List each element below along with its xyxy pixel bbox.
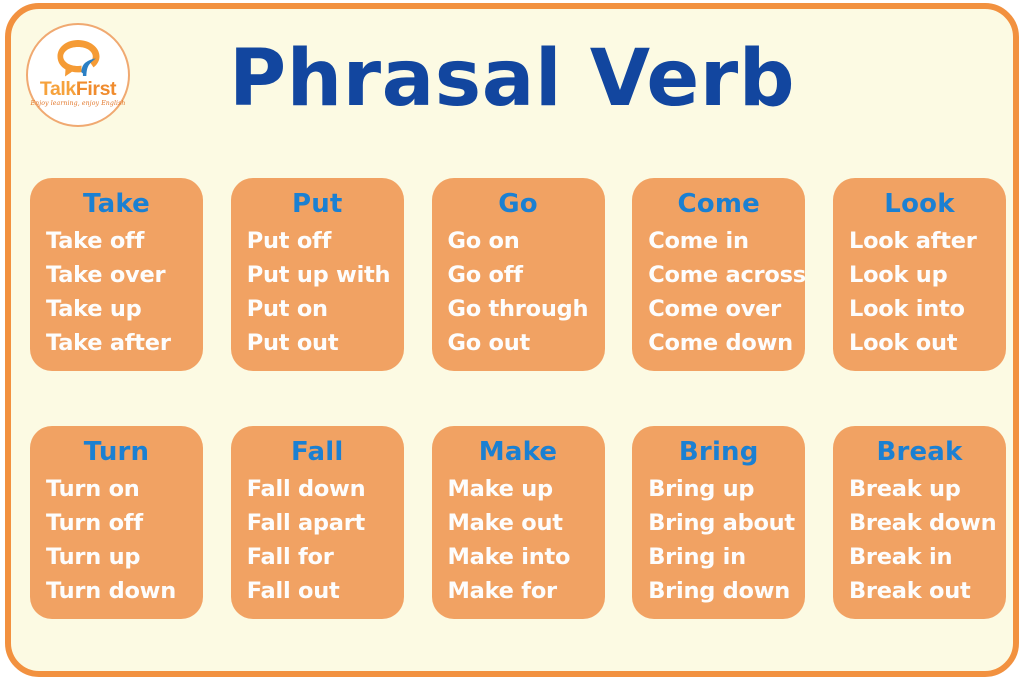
poster-frame: TalkFirst Enjoy learning, enjoy English … [5,3,1019,677]
verb-card-title: Look [833,188,1006,222]
verb-card[interactable]: MakeMake upMake outMake intoMake for [432,426,605,619]
verb-card-item: Go on [448,224,605,258]
verb-card[interactable]: BringBring upBring aboutBring inBring do… [632,426,805,619]
verb-card-title: Break [833,436,1006,470]
verb-card-title: Put [231,188,404,222]
verb-card-item: Take over [46,258,203,292]
verb-card-list: Come inCome acrossCome overCome down [632,222,805,361]
verb-card-list: Turn onTurn offTurn upTurn down [30,470,203,609]
verb-card[interactable]: GoGo onGo offGo throughGo out [432,178,605,371]
verb-card-item: Fall apart [247,506,404,540]
verb-card-list: Bring upBring aboutBring inBring down [632,470,805,609]
verb-card-item: Put out [247,326,404,360]
verb-card-item: Fall down [247,472,404,506]
verb-card-item: Make into [448,540,605,574]
verb-card-item: Bring up [648,472,805,506]
verb-card-item: Put up with [247,258,404,292]
verb-card-item: Take after [46,326,203,360]
verb-card-item: Take up [46,292,203,326]
verb-card-title: Go [432,188,605,222]
verb-card-item: Turn off [46,506,203,540]
verb-card-item: Fall out [247,574,404,608]
verb-card-item: Look after [849,224,1006,258]
verb-card-row-1: TakeTake offTake overTake upTake afterPu… [30,178,1006,371]
verb-card-item: Look into [849,292,1006,326]
verb-card-title: Take [30,188,203,222]
poster-root: TalkFirst Enjoy learning, enjoy English … [0,0,1024,680]
verb-card-title: Turn [30,436,203,470]
verb-card[interactable]: TakeTake offTake overTake upTake after [30,178,203,371]
verb-card-list: Fall downFall apartFall forFall out [231,470,404,609]
verb-card-item: Go out [448,326,605,360]
verb-card-item: Come in [648,224,805,258]
verb-card-item: Make for [448,574,605,608]
verb-card-item: Break out [849,574,1006,608]
verb-card-item: Break in [849,540,1006,574]
verb-card-list: Put offPut up withPut onPut out [231,222,404,361]
verb-card-title: Come [632,188,805,222]
verb-card[interactable]: ComeCome inCome acrossCome overCome down [632,178,805,371]
verb-card-list: Go onGo offGo throughGo out [432,222,605,361]
verb-card-item: Look up [849,258,1006,292]
verb-card-row-2: TurnTurn onTurn offTurn upTurn downFallF… [30,426,1006,619]
verb-card[interactable]: TurnTurn onTurn offTurn upTurn down [30,426,203,619]
verb-card-item: Put off [247,224,404,258]
verb-card-item: Come down [648,326,805,360]
verb-card[interactable]: PutPut offPut up withPut onPut out [231,178,404,371]
verb-card-item: Come across [648,258,805,292]
verb-card[interactable]: FallFall downFall apartFall forFall out [231,426,404,619]
verb-card-list: Look afterLook upLook intoLook out [833,222,1006,361]
verb-card-item: Bring in [648,540,805,574]
verb-card-item: Look out [849,326,1006,360]
verb-card-item: Make up [448,472,605,506]
verb-card-item: Go through [448,292,605,326]
verb-card-title: Fall [231,436,404,470]
verb-card-item: Bring about [648,506,805,540]
verb-card[interactable]: LookLook afterLook upLook intoLook out [833,178,1006,371]
verb-card-title: Make [432,436,605,470]
verb-card-item: Turn up [46,540,203,574]
verb-card-item: Bring down [648,574,805,608]
verb-card-item: Break down [849,506,1006,540]
verb-card-item: Take off [46,224,203,258]
verb-card-item: Go off [448,258,605,292]
verb-card[interactable]: BreakBreak upBreak downBreak inBreak out [833,426,1006,619]
verb-card-list: Break upBreak downBreak inBreak out [833,470,1006,609]
verb-card-item: Turn down [46,574,203,608]
page-title: Phrasal Verb [11,33,1013,125]
verb-card-list: Take offTake overTake upTake after [30,222,203,361]
verb-card-item: Turn on [46,472,203,506]
verb-card-item: Make out [448,506,605,540]
verb-card-title: Bring [632,436,805,470]
verb-card-item: Break up [849,472,1006,506]
verb-card-item: Put on [247,292,404,326]
verb-card-list: Make upMake outMake intoMake for [432,470,605,609]
poster-header: TalkFirst Enjoy learning, enjoy English … [11,9,1013,157]
verb-card-item: Fall for [247,540,404,574]
verb-card-item: Come over [648,292,805,326]
